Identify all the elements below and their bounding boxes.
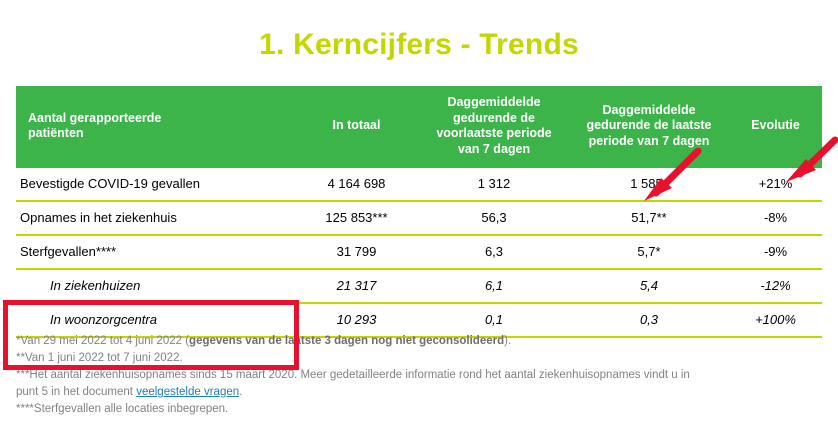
kerncijfers-table-container: Aantal gerapporteerde patiënten In totaa…	[16, 86, 822, 338]
row-total: 21 317	[294, 269, 419, 303]
footnote-1: *Van 29 mei 2022 tot 4 juni 2022 (gegeve…	[16, 333, 826, 350]
footnote-3-cont-post: .	[239, 386, 242, 398]
row-prev-average: 0,1	[419, 303, 569, 337]
table-row: Opnames in het ziekenhuis 125 853*** 56,…	[16, 201, 822, 235]
column-header-last-line-2: gedurende de laatste	[573, 118, 725, 134]
column-header-prev-line-2: gedurende de	[423, 111, 565, 127]
footnote-1-bold: gegevens van de laatste 3 dagen nog niet…	[189, 335, 504, 347]
row-last-average: 51,7**	[569, 201, 729, 235]
row-prev-average: 56,3	[419, 201, 569, 235]
table-header: Aantal gerapporteerde patiënten In totaa…	[16, 86, 822, 168]
row-prev-average: 6,3	[419, 235, 569, 269]
table-row: In woonzorgcentra 10 293 0,1 0,3 +100%	[16, 303, 822, 337]
column-header-patients-line-1: Aantal gerapporteerde	[28, 111, 290, 127]
page-title: 1. Kerncijfers - Trends	[0, 28, 838, 62]
veelgestelde-vragen-link[interactable]: veelgestelde vragen	[136, 386, 239, 398]
row-label: Sterfgevallen****	[16, 235, 294, 269]
table-row: Sterfgevallen**** 31 799 6,3 5,7* -9%	[16, 235, 822, 269]
row-total: 31 799	[294, 235, 419, 269]
row-label: Bevestigde COVID-19 gevallen	[16, 168, 294, 201]
footnote-1-post: ).	[504, 335, 511, 347]
column-header-prev-line-4: van 7 dagen	[423, 142, 565, 158]
row-label: Opnames in het ziekenhuis	[16, 201, 294, 235]
kerncijfers-table: Aantal gerapporteerde patiënten In totaa…	[16, 86, 822, 338]
column-header-last-line-1: Daggemiddelde	[573, 103, 725, 119]
slide-canvas: 1. Kerncijfers - Trends Aantal gerapport…	[0, 0, 838, 438]
column-header-total: In totaal	[294, 86, 419, 168]
footnotes: *Van 29 mei 2022 tot 4 juni 2022 (gegeve…	[16, 333, 826, 418]
footnote-3-cont-pre: punt 5 in het document	[16, 386, 136, 398]
footnote-4: ****Sterfgevallen alle locaties inbegrep…	[16, 401, 826, 418]
table-header-row: Aantal gerapporteerde patiënten In totaa…	[16, 86, 822, 168]
footnote-3-part-2: punt 5 in het document veelgestelde vrag…	[16, 384, 826, 401]
row-last-average: 1 585*	[569, 168, 729, 201]
column-header-prev-line-1: Daggemiddelde	[423, 95, 565, 111]
table-row: In ziekenhuizen 21 317 6,1 5,4 -12%	[16, 269, 822, 303]
row-last-average: 5,7*	[569, 235, 729, 269]
row-evolution: -9%	[729, 235, 822, 269]
row-evolution: +21%	[729, 168, 822, 201]
column-header-evolution-line-1: Evolutie	[733, 118, 818, 134]
column-header-last-line-3: periode van 7 dagen	[573, 134, 725, 150]
table-row: Bevestigde COVID-19 gevallen 4 164 698 1…	[16, 168, 822, 201]
row-label: In woonzorgcentra	[16, 303, 294, 337]
row-last-average: 5,4	[569, 269, 729, 303]
column-header-patients: Aantal gerapporteerde patiënten	[16, 86, 294, 168]
footnote-1-pre: *Van 29 mei 2022 tot 4 juni 2022 (	[16, 335, 189, 347]
row-label: In ziekenhuizen	[16, 269, 294, 303]
row-prev-average: 6,1	[419, 269, 569, 303]
row-total: 10 293	[294, 303, 419, 337]
row-total: 125 853***	[294, 201, 419, 235]
column-header-prev-line-3: voorlaatste periode	[423, 126, 565, 142]
row-evolution: +100%	[729, 303, 822, 337]
footnote-2: **Van 1 juni 2022 tot 7 juni 2022.	[16, 350, 826, 367]
column-header-prev-period-average: Daggemiddelde gedurende de voorlaatste p…	[419, 86, 569, 168]
row-last-average: 0,3	[569, 303, 729, 337]
row-evolution: -8%	[729, 201, 822, 235]
table-body: Bevestigde COVID-19 gevallen 4 164 698 1…	[16, 168, 822, 337]
column-header-patients-line-2: patiënten	[28, 126, 290, 142]
row-evolution: -12%	[729, 269, 822, 303]
row-prev-average: 1 312	[419, 168, 569, 201]
column-header-total-line-1: In totaal	[298, 118, 415, 134]
column-header-evolution: Evolutie	[729, 86, 822, 168]
column-header-last-period-average: Daggemiddelde gedurende de laatste perio…	[569, 86, 729, 168]
footnote-3-part-1: ***Het aantal ziekenhuisopnames sinds 15…	[16, 367, 826, 384]
row-total: 4 164 698	[294, 168, 419, 201]
